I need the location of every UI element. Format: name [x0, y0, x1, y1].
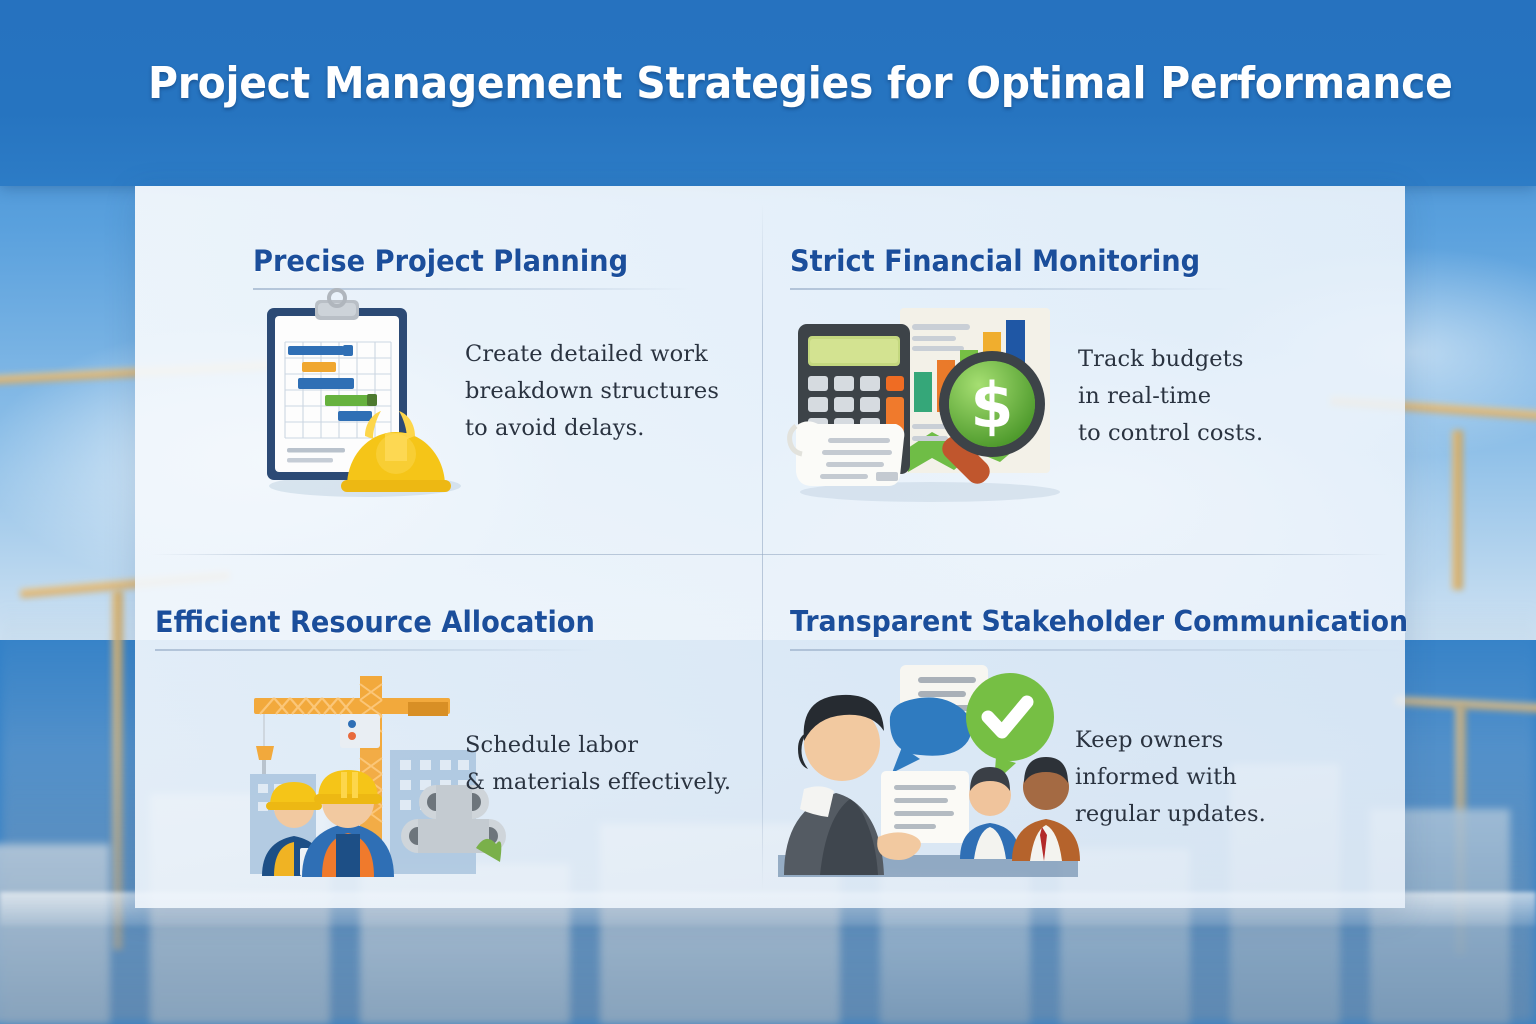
- quadrant-precise-project-planning[interactable]: Precise Project Planning: [135, 186, 770, 547]
- quadrant-heading: Efficient Resource Allocation: [155, 605, 714, 639]
- heading-underline: [790, 649, 1400, 651]
- heading-underline: [253, 288, 693, 290]
- quadrant-heading: Strict Financial Monitoring: [790, 244, 1349, 278]
- background-crane-mast-right: [1452, 430, 1463, 590]
- calculator-chart-magnifier-dollar-icon: $: [780, 296, 1080, 501]
- quadrant-body-text: Schedule labor & materials effectively.: [465, 727, 745, 801]
- quadrant-heading: Transparent Stakeholder Communication: [790, 605, 1349, 638]
- quadrant-heading: Precise Project Planning: [253, 244, 720, 278]
- clipboard-gantt-hardhat-icon: [255, 294, 475, 499]
- page-title: Project Management Strategies for Optima…: [148, 58, 1453, 109]
- content-panel: Precise Project Planning: [135, 186, 1405, 908]
- quadrant-efficient-resource-allocation[interactable]: Efficient Resource Allocation: [135, 547, 770, 908]
- header-band: Project Management Strategies for Optima…: [0, 0, 1536, 186]
- quadrant-body-text: Track budgets in real-time to control co…: [1078, 341, 1328, 452]
- crane-workers-pipes-icon: [240, 662, 500, 877]
- svg-text:$: $: [970, 369, 1013, 442]
- quadrant-transparent-stakeholder-communication[interactable]: Transparent Stakeholder Communication: [770, 547, 1405, 908]
- heading-underline: [790, 288, 1230, 290]
- quadrant-strict-financial-monitoring[interactable]: Strict Financial Monitoring: [770, 186, 1405, 547]
- background-building: [0, 844, 110, 1024]
- quadrant-body-text: Create detailed work breakdown structure…: [465, 336, 735, 447]
- meeting-speech-bubbles-check-icon: [778, 659, 1078, 877]
- heading-underline: [155, 649, 595, 651]
- quadrant-body-text: Keep owners informed with regular update…: [1075, 722, 1315, 833]
